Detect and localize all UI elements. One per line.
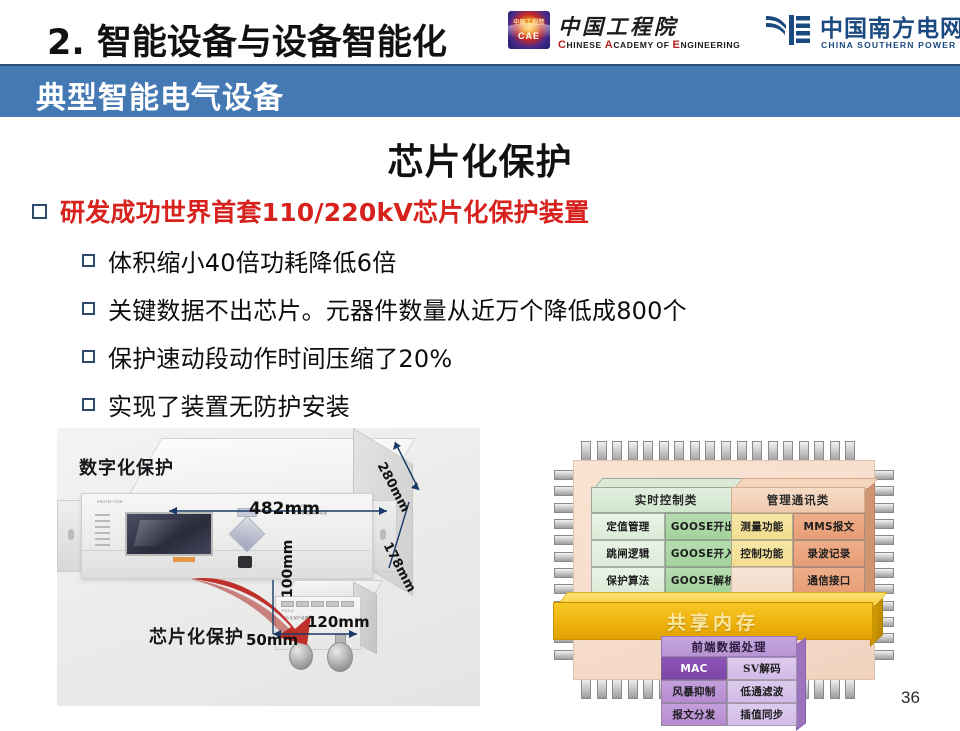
chip-pin xyxy=(737,441,747,462)
section-banner: 典型智能电气设备 xyxy=(0,64,960,117)
chip-pin xyxy=(830,441,840,462)
cell-frontend-r1-right: 低通滤波 xyxy=(727,680,797,703)
block-frontend-data: 前端数据处理 MAC SV解码 风暴抑制 低通滤波 报文分发 插值同步 xyxy=(661,636,797,730)
csg-logo-english: CHINA SOUTHERN POWER GRID xyxy=(821,40,960,50)
cell-frontend-r2-right: 插值同步 xyxy=(727,703,797,726)
cell-frontend-r0-left: MAC xyxy=(661,657,727,680)
chip-pin xyxy=(581,441,591,462)
chip-pin xyxy=(554,568,575,578)
chip-pin xyxy=(554,650,575,660)
chip-pin xyxy=(873,568,894,578)
chip-pin xyxy=(690,441,700,462)
cell-management-r1-right: 录波记录 xyxy=(793,540,865,567)
shared-memory-front-face: 共享内存 xyxy=(553,602,873,640)
chip-pin xyxy=(554,470,575,480)
hollow-square-bullet-icon xyxy=(82,254,95,267)
chip-pin xyxy=(554,535,575,545)
csg-logo-chinese: 中国南方电网 xyxy=(820,9,960,43)
slide: 2. 智能设备与设备智能化 中国工程院 CAE 中国工程院 CHINESE AC… xyxy=(0,0,960,720)
chip-pin xyxy=(612,678,622,699)
chip-pin xyxy=(628,441,638,462)
content-title: 芯片化保护 xyxy=(0,133,960,185)
page-number: 36 xyxy=(901,688,920,708)
block-realtime-header: 实时控制类 xyxy=(591,487,741,513)
chip-pin xyxy=(873,650,894,660)
chip-pin xyxy=(554,503,575,513)
csg-mark-icon xyxy=(766,11,810,49)
chip-pin xyxy=(554,486,575,496)
bullet-level2-3-text: 保护速动段动作时间压缩了20% xyxy=(108,339,452,374)
cell-management-r0-left: 测量功能 xyxy=(731,513,793,540)
cae-badge-icon: 中国工程院 CAE xyxy=(508,11,550,49)
bullet-level2-4: 实现了装置无防护安装 xyxy=(82,387,350,422)
block-side-face xyxy=(864,483,875,602)
chip-pin xyxy=(581,678,591,699)
cae-logo: 中国工程院 CAE 中国工程院 CHINESE ACADEMY OF ENGIN… xyxy=(508,9,736,57)
chip-pin xyxy=(554,552,575,562)
chip-pin xyxy=(705,441,715,462)
dimension-rack-width: 482mm xyxy=(249,499,320,519)
chip-pin xyxy=(721,441,731,462)
chip-pin xyxy=(597,678,607,699)
cell-realtime-r1-right: GOOSE开入 xyxy=(665,540,741,567)
cell-management-r0-right: MMS报文 xyxy=(793,513,865,540)
bullet-level2-1: 体积缩小40倍功耗降低6倍 xyxy=(82,243,396,278)
chip-pin xyxy=(674,441,684,462)
csg-logo: 中国南方电网 CHINA SOUTHERN POWER GRID xyxy=(766,8,948,58)
cae-badge-bottom-label: CAE xyxy=(508,31,550,41)
block-frontend-header: 前端数据处理 xyxy=(661,636,797,657)
bullet-level2-1-text: 体积缩小40倍功耗降低6倍 xyxy=(108,243,396,278)
block-management-comm: 管理通讯类 测量功能 MMS报文 控制功能 录波记录 通信接口 xyxy=(731,478,865,596)
cell-management-r1-left: 控制功能 xyxy=(731,540,793,567)
cae-logo-english: CHINESE ACADEMY OF ENGINEERING xyxy=(558,39,740,51)
block-management-header: 管理通讯类 xyxy=(731,487,865,513)
hollow-square-bullet-icon xyxy=(82,302,95,315)
chip-pin xyxy=(799,441,809,462)
chip-pin xyxy=(659,441,669,462)
cell-frontend-r2-left: 报文分发 xyxy=(661,703,727,726)
block-shared-memory: 共享内存 xyxy=(553,592,883,640)
chip-pin xyxy=(612,441,622,462)
chip-pin xyxy=(873,486,894,496)
chip-pin xyxy=(873,552,894,562)
dimension-chip-width: 120mm xyxy=(307,613,370,631)
bullet-level2-3: 保护速动段动作时间压缩了20% xyxy=(82,339,452,374)
shared-memory-label: 共享内存 xyxy=(667,608,759,635)
bullet-level2-2: 关键数据不出芯片。元器件数量从近万个降低成800个 xyxy=(82,291,687,326)
chip-pin xyxy=(783,441,793,462)
cell-realtime-r0-right: GOOSE开出 xyxy=(665,513,741,540)
chip-architecture-diagram: 实时控制类 定值管理 GOOSE开出 跳闸逻辑 GOOSE开入 保护算法 GOO… xyxy=(533,432,923,708)
bullet-level2-4-text: 实现了装置无防护安装 xyxy=(108,387,350,422)
cell-realtime-r0-left: 定值管理 xyxy=(591,513,665,540)
bullet-level1-text: 研发成功世界首套110/220kV芯片化保护装置 xyxy=(60,193,589,229)
chip-pin xyxy=(752,441,762,462)
bullet-level1: 研发成功世界首套110/220kV芯片化保护装置 xyxy=(32,193,589,229)
dimension-chip-depth: 50mm xyxy=(246,631,298,649)
cell-realtime-r2-left: 保护算法 xyxy=(591,567,665,594)
cell-frontend-r1-left: 风暴抑制 xyxy=(661,680,727,703)
chip-pin xyxy=(643,678,653,699)
slide-header: 2. 智能设备与设备智能化 中国工程院 CAE 中国工程院 CHINESE AC… xyxy=(0,0,960,64)
chip-pin xyxy=(628,678,638,699)
chip-pin xyxy=(873,535,894,545)
chip-pin xyxy=(873,519,894,529)
hollow-square-bullet-icon xyxy=(82,350,95,363)
device-comparison-photo: PROTECTION CSC-103 数字化线路保护装置 PCS-0 芯片化保护… xyxy=(57,428,480,706)
chip-pin xyxy=(597,441,607,462)
chip-pin xyxy=(873,503,894,513)
dimension-chip-height: 100mm xyxy=(280,540,296,598)
dimension-lines xyxy=(57,428,480,706)
chip-pin xyxy=(845,441,855,462)
chip-pin xyxy=(814,441,824,462)
section-banner-label: 典型智能电气设备 xyxy=(36,73,284,117)
hollow-square-bullet-icon xyxy=(82,398,95,411)
cae-logo-chinese: 中国工程院 xyxy=(558,11,678,41)
cell-realtime-r2-right: GOOSE解析 xyxy=(665,567,741,594)
chip-pin xyxy=(830,678,840,699)
chip-pin xyxy=(814,678,824,699)
hollow-square-bullet-icon xyxy=(32,204,47,219)
chip-pin xyxy=(768,441,778,462)
cell-realtime-r1-left: 跳闸逻辑 xyxy=(591,540,665,567)
chip-pin xyxy=(845,678,855,699)
page-title: 2. 智能设备与设备智能化 xyxy=(47,14,447,65)
chip-pin xyxy=(643,441,653,462)
cell-management-r2-right: 通信接口 xyxy=(793,567,865,594)
chip-pin xyxy=(554,519,575,529)
block-realtime-control: 实时控制类 定值管理 GOOSE开出 跳闸逻辑 GOOSE开入 保护算法 GOO… xyxy=(591,478,741,596)
cell-management-r2-left xyxy=(731,567,793,594)
block-side-face xyxy=(796,637,806,731)
cae-badge-top-label: 中国工程院 xyxy=(508,17,550,26)
bullet-level2-2-text: 关键数据不出芯片。元器件数量从近万个降低成800个 xyxy=(108,291,687,326)
cell-frontend-r0-right: SV解码 xyxy=(727,657,797,680)
